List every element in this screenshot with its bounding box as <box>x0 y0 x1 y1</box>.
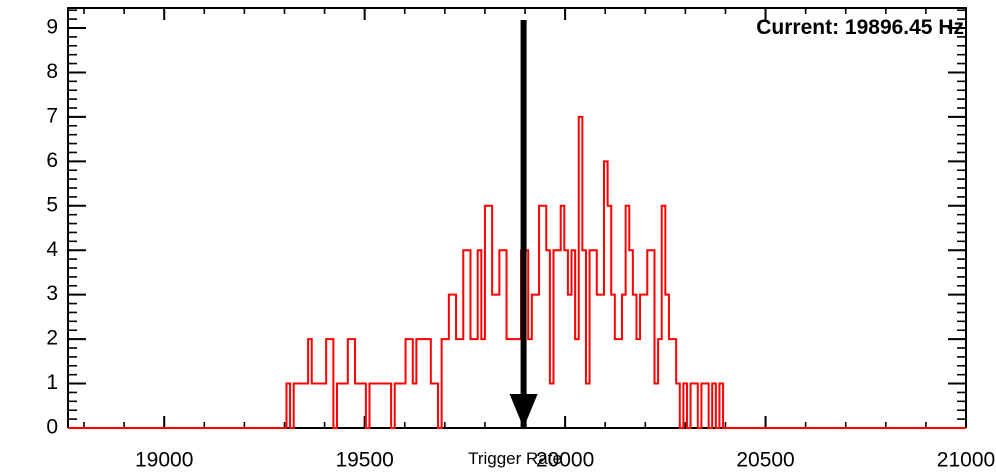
y-axis-tick-label: 2 <box>46 327 58 350</box>
x-axis-tick-label: 19500 <box>335 448 393 471</box>
current-rate-marker <box>510 20 538 428</box>
y-axis-ticks <box>68 10 966 428</box>
x-axis-tick-label: 20500 <box>736 448 794 471</box>
x-axis-title: Trigger Rate <box>468 449 562 468</box>
y-axis-tick-label: 6 <box>46 149 58 172</box>
y-axis-tick-label: 5 <box>46 193 58 216</box>
y-axis-tick-label: 4 <box>46 238 58 261</box>
trigger-rate-histogram: 1900019500200002050021000 0123456789 Tri… <box>0 0 996 472</box>
plot-frame <box>68 8 966 428</box>
y-axis-tick-label: 7 <box>46 104 58 127</box>
plot-frame-box <box>68 8 966 428</box>
y-axis-tick-label: 9 <box>46 16 58 39</box>
x-axis-tick-label: 21000 <box>937 448 995 471</box>
histogram-outline <box>68 117 966 428</box>
y-axis-tick-label: 8 <box>46 60 58 83</box>
y-axis-tick-label: 3 <box>46 282 58 305</box>
x-axis-tick-label: 19000 <box>135 448 193 471</box>
current-rate-readout: Current: 19896.45 Hz <box>756 16 964 40</box>
y-axis-tick-label: 0 <box>46 416 58 439</box>
marker-arrowhead <box>510 394 538 428</box>
x-axis-tick-labels: 1900019500200002050021000 <box>135 448 995 471</box>
y-axis-tick-label: 1 <box>46 371 58 394</box>
y-axis-tick-labels: 0123456789 <box>46 16 58 439</box>
histogram-canvas: 1900019500200002050021000 0123456789 Tri… <box>0 0 996 472</box>
